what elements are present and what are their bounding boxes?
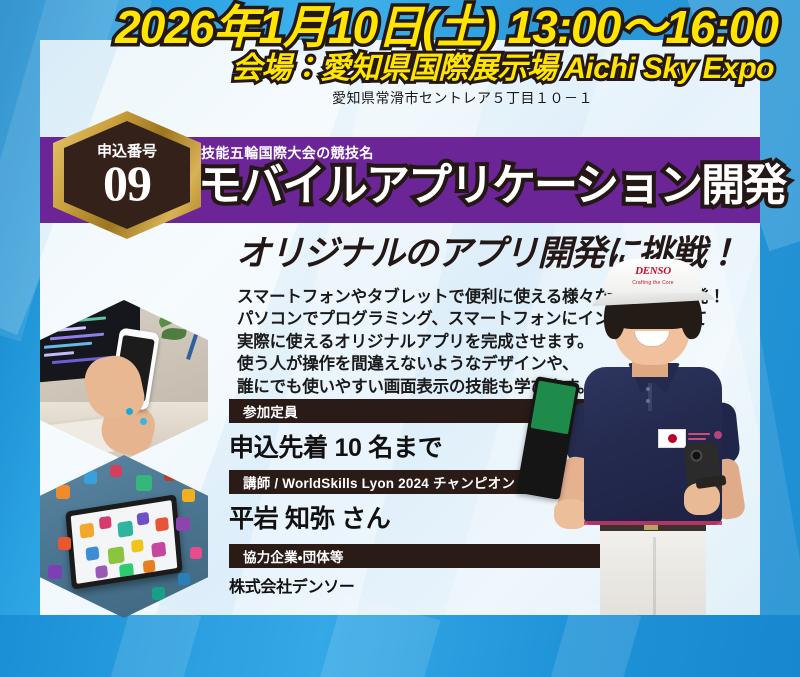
held-tablet-screen	[531, 381, 577, 435]
floating-app-icon	[56, 485, 70, 499]
person-shirt-hem	[584, 521, 722, 525]
info-label: 講師 / WorldSkills Lyon 2024 チャンピオン	[243, 472, 515, 492]
event-datetime: 2026年1月10日(土) 13:00〜16:00	[0, 4, 778, 51]
instructor-photo: DENSO Crafting the Core	[556, 260, 748, 615]
competition-title: モバイルアプリケーション開発	[198, 164, 756, 208]
person-button	[646, 399, 650, 403]
cap-tagline-text: Crafting the Core	[622, 279, 684, 287]
floating-app-icon	[190, 547, 202, 559]
floating-app-icon	[152, 587, 165, 600]
event-poster: 2026年1月10日(土) 13:00〜16:00 会場：愛知県国際展示場 Ai…	[0, 0, 800, 677]
competition-title-wrap: 技能五輪国際大会の競技名 モバイルアプリケーション開発	[198, 137, 756, 223]
person-button	[646, 387, 650, 391]
bottom-band	[0, 615, 800, 677]
info-label: 協力企業・団体等	[243, 546, 344, 566]
floating-app-icon	[48, 565, 62, 579]
competition-kicker: 技能五輪国際大会の競技名	[201, 143, 756, 163]
person-trousers	[600, 529, 706, 615]
floating-app-icon	[182, 489, 195, 502]
connection-dot	[140, 418, 147, 425]
tablet-icon	[65, 494, 182, 589]
floating-app-icon	[176, 517, 190, 531]
floating-app-icon	[58, 537, 71, 550]
connection-dot	[126, 408, 133, 415]
person-hand-left	[554, 499, 588, 529]
japan-flag-icon	[658, 429, 686, 448]
cap-logo-text: DENSO	[626, 265, 680, 277]
floating-app-icon	[110, 465, 122, 477]
event-address: 愛知県常滑市セントレア５丁目１０－１	[0, 88, 600, 108]
floating-app-icon	[136, 475, 152, 491]
application-number-badge: 申込番号 09	[53, 111, 201, 239]
poster-header: 2026年1月10日(土) 13:00〜16:00 会場：愛知県国際展示場 Ai…	[0, 0, 800, 112]
event-venue: 会場：愛知県国際展示場 Aichi Sky Expo	[0, 53, 774, 85]
info-label: 参加定員	[243, 401, 298, 421]
tablet-screen	[71, 500, 178, 584]
floating-app-icon	[178, 573, 190, 585]
badge-number: 09	[103, 160, 151, 206]
